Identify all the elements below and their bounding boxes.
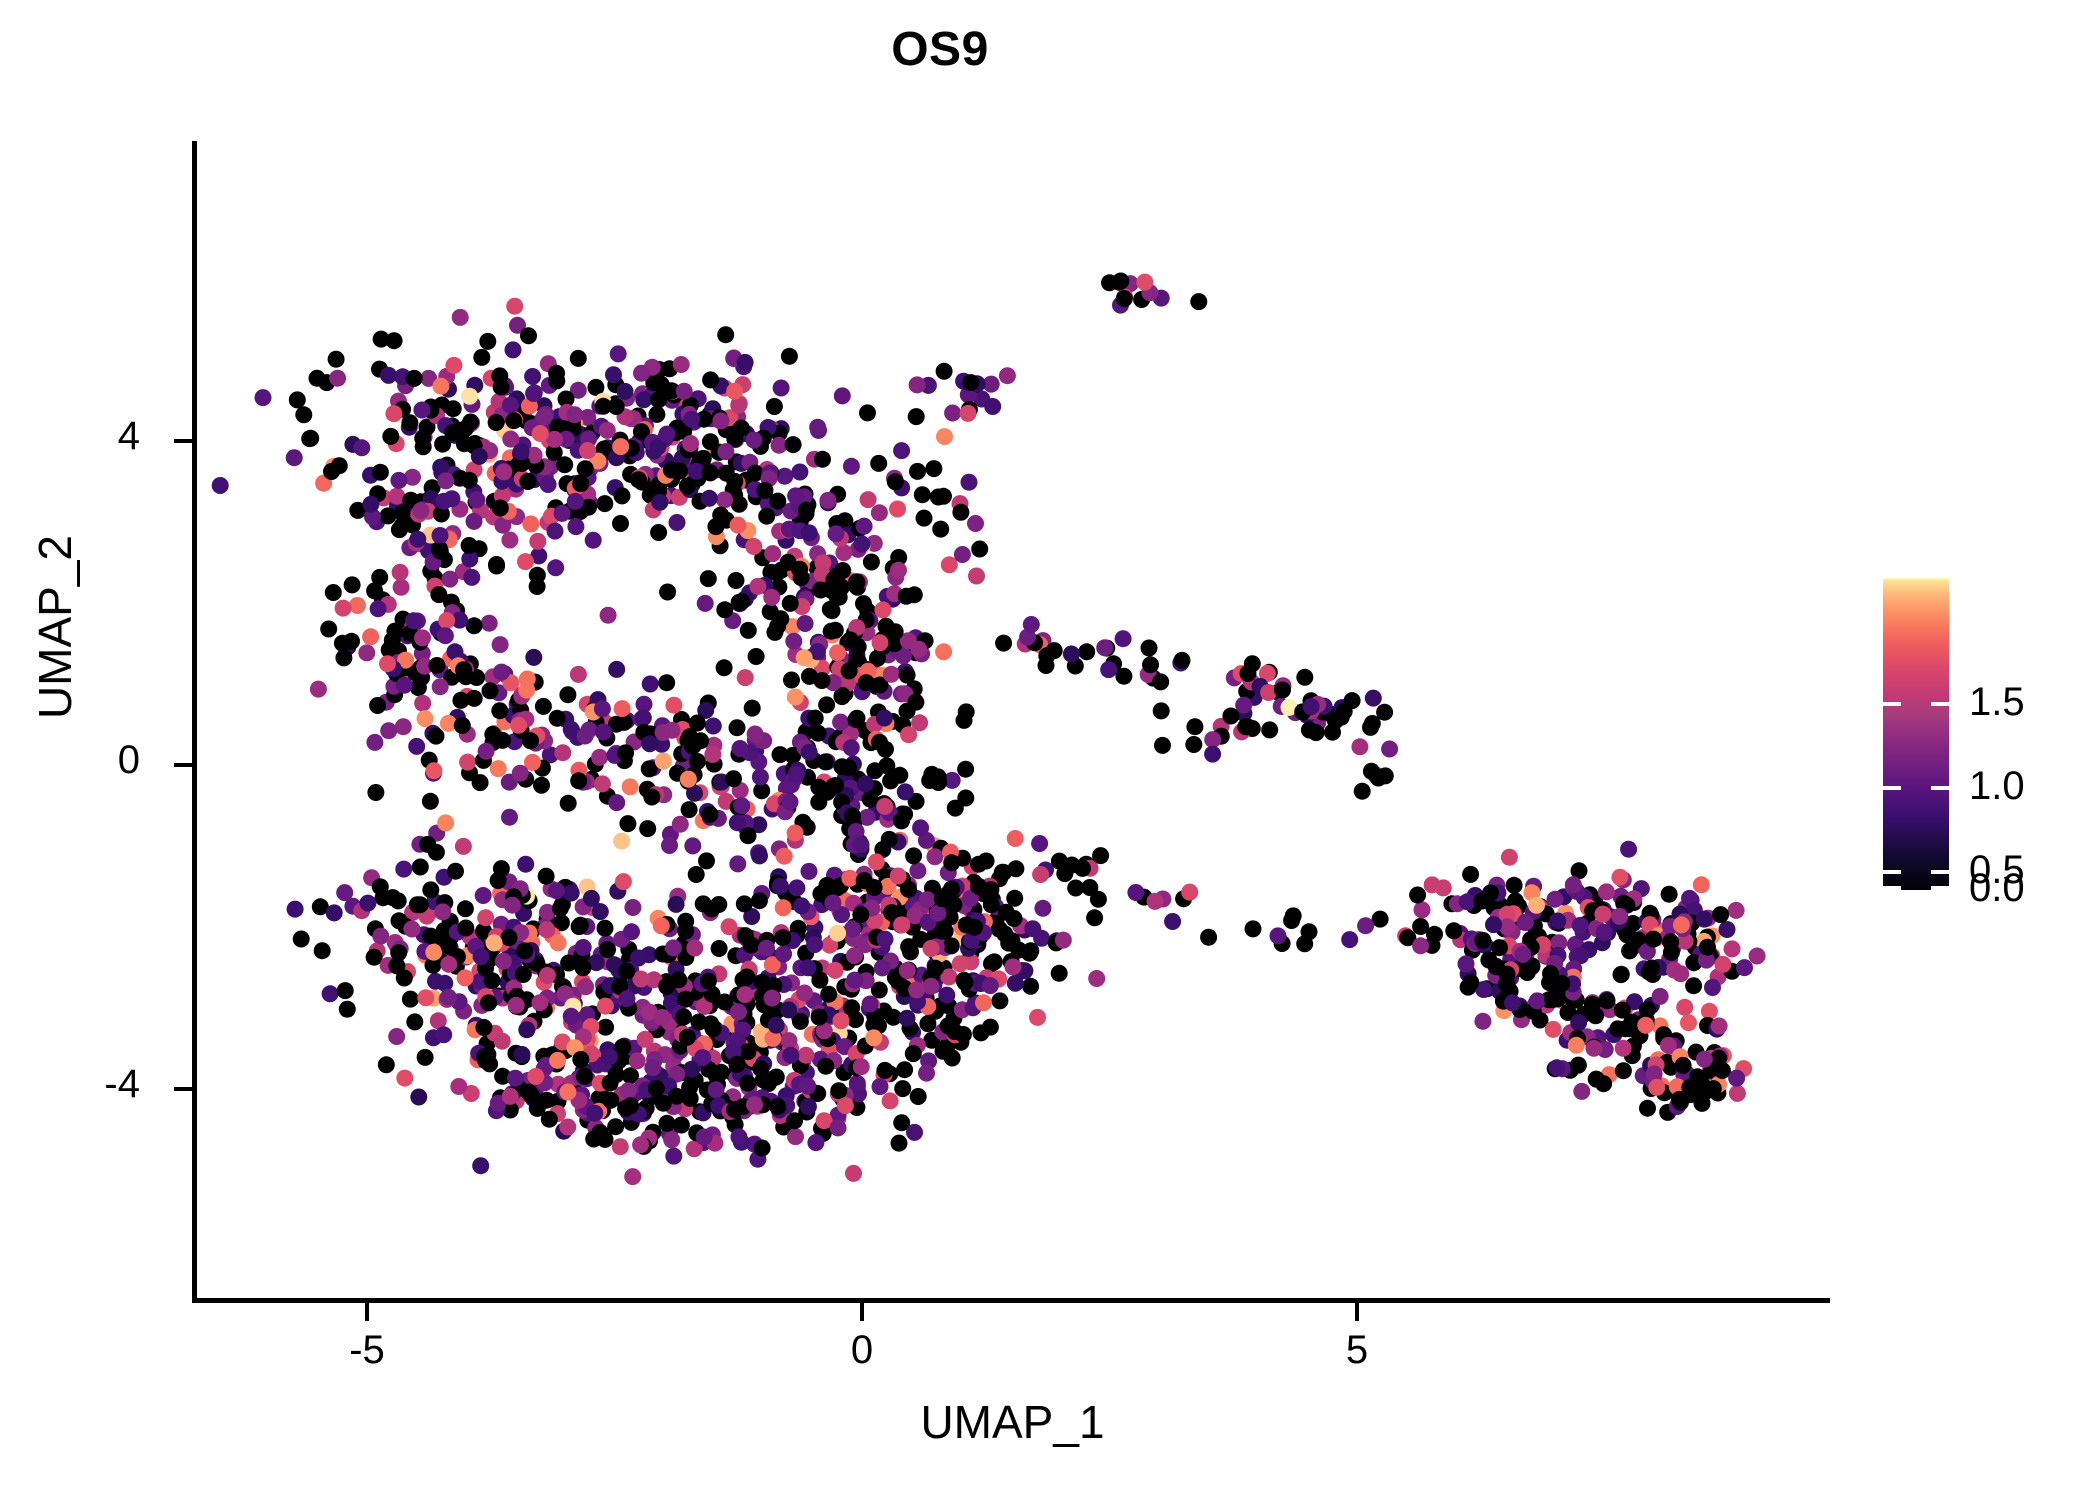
y-tick-label-0: 0 <box>80 740 140 780</box>
y-tick-0 <box>174 763 192 767</box>
colorbar-tick-1p0-left <box>1883 786 1901 790</box>
y-tick-4 <box>174 439 192 443</box>
x-tick-5 <box>1355 1303 1359 1321</box>
colorbar-label-0p0: 0.0 <box>1969 868 2099 908</box>
colorbar-gradient <box>1883 578 1949 890</box>
colorbar-tick-0p0-right <box>1931 886 1949 890</box>
colorbar-tick-1p0-right <box>1931 786 1949 790</box>
page-title: OS9 <box>0 22 1880 77</box>
x-tick-neg5 <box>365 1303 369 1321</box>
y-tick-label-neg4: -4 <box>62 1064 140 1104</box>
colorbar-tick-1p5-right <box>1931 702 1949 706</box>
colorbar-tick-0p5-right <box>1931 870 1949 874</box>
x-tick-label-5: 5 <box>1297 1330 1417 1370</box>
colorbar-legend: 1.5 1.0 0.5 0.0 <box>1883 578 2093 890</box>
y-tick-label-4: 4 <box>80 416 140 456</box>
colorbar-tick-0p0-left <box>1883 886 1901 890</box>
feature-plot-figure: OS9 4 0 -4 -5 0 5 UMAP_2 UMAP_1 1.5 1.0 … <box>0 0 2100 1500</box>
scatter-panel <box>195 141 1830 1300</box>
x-tick-label-neg5: -5 <box>307 1330 427 1370</box>
colorbar-gradient-inner <box>1883 578 1949 890</box>
y-axis-title: UMAP_2 <box>28 367 82 887</box>
colorbar-tick-0p5-left <box>1883 870 1901 874</box>
x-axis-title: UMAP_1 <box>195 1395 1830 1449</box>
colorbar-tick-1p5-left <box>1883 702 1901 706</box>
x-tick-0 <box>860 1303 864 1321</box>
colorbar-label-1p0: 1.0 <box>1969 766 2099 806</box>
colorbar-label-1p5: 1.5 <box>1969 682 2099 722</box>
x-tick-label-0: 0 <box>802 1330 922 1370</box>
y-tick-neg4 <box>174 1087 192 1091</box>
scatter-points <box>195 141 1830 1300</box>
